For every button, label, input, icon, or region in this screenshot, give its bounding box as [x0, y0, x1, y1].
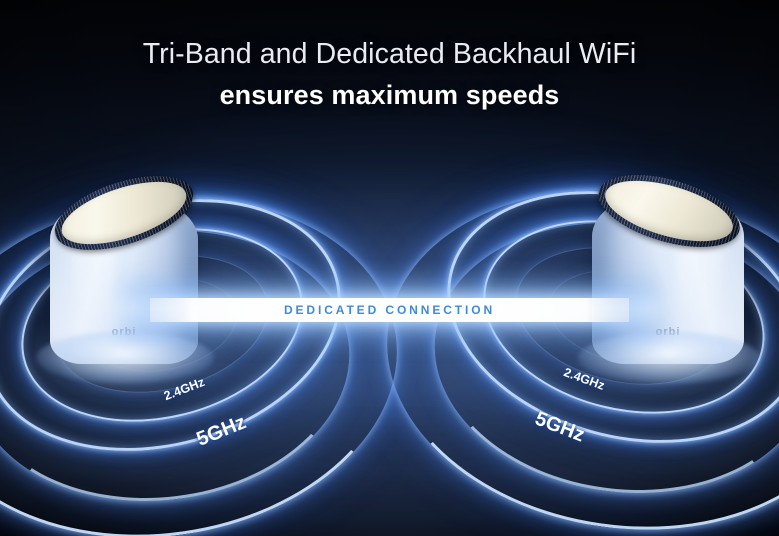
headline: Tri-Band and Dedicated Backhaul WiFi ens…	[0, 36, 779, 113]
dedicated-connection-beam: DEDICATED CONNECTION	[0, 272, 779, 348]
headline-line-1: Tri-Band and Dedicated Backhaul WiFi	[0, 36, 779, 73]
promo-banner: orbi orbi DEDICATED CONNECTION 2.4GHz 5G…	[0, 0, 779, 536]
dedicated-connection-label: DEDICATED CONNECTION	[0, 300, 779, 320]
headline-line-2: ensures maximum speeds	[0, 78, 779, 113]
